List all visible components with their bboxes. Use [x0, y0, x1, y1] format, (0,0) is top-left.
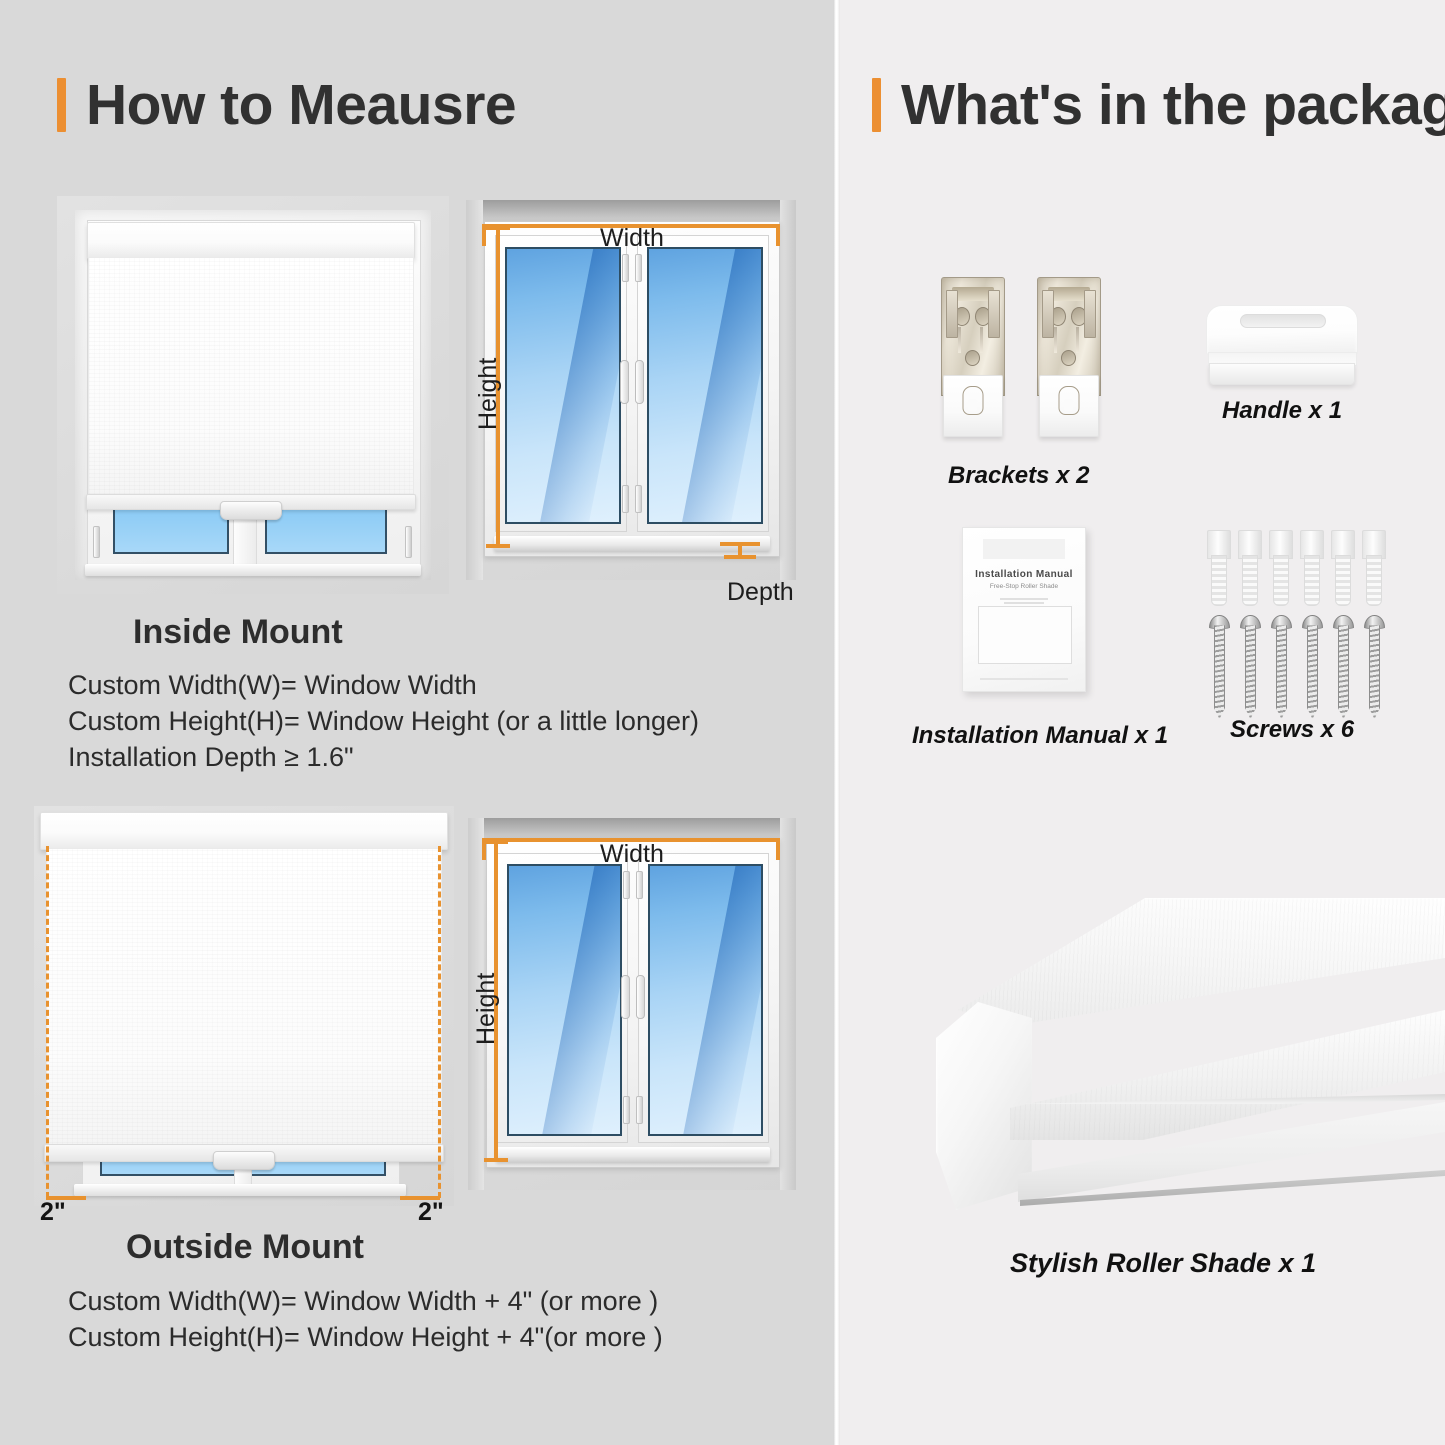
screw-icon: [1302, 615, 1321, 719]
inside-mount-spec-2: Custom Height(H)= Window Height (or a li…: [68, 706, 699, 737]
bracket-rail: [1076, 327, 1079, 353]
wall-anchor-icon: [1300, 530, 1322, 604]
width-cap-right: [776, 224, 780, 246]
outside-mount-illustration: [34, 806, 454, 1206]
hinge-icon: [636, 1096, 643, 1124]
handle-body: [1206, 305, 1358, 355]
bracket-tab-left: [1042, 290, 1054, 338]
wall-anchor-icon: [1269, 530, 1291, 604]
window-frame: [486, 838, 780, 1167]
how-to-measure-heading: How to Meausre: [57, 72, 516, 138]
handle-icon: [1206, 305, 1356, 383]
window-sill: [496, 1147, 770, 1162]
bracket-mount-plate: [943, 375, 1002, 437]
window-hinge-left-icon: [93, 526, 100, 558]
bracket-icon: [941, 277, 1003, 435]
inside-mount-window-diagram: [466, 200, 796, 580]
window-sash-left: [495, 235, 626, 531]
wall-anchor-icon: [1362, 530, 1384, 604]
window-glass-left: [505, 247, 620, 525]
hinge-icon: [623, 871, 630, 899]
window-frame: [484, 221, 780, 557]
window-reveal-right: [780, 200, 797, 580]
outside-mount-window-diagram: [468, 818, 796, 1190]
window-pane-left: [113, 508, 229, 554]
inside-mount-spec-3: Installation Depth ≥ 1.6": [68, 742, 354, 773]
inside-mount-spec-1: Custom Width(W)= Window Width: [68, 670, 477, 701]
bracket-keyhole-slot: [962, 386, 983, 415]
window-sill: [85, 564, 421, 576]
how-to-measure-title: How to Meausre: [86, 72, 516, 138]
window-handle-right-icon: [635, 360, 644, 404]
shade-pull-handle[interactable]: [220, 501, 282, 520]
window-handles: [620, 360, 644, 404]
hinge-icon: [622, 485, 629, 513]
overhang-label-right: 2": [418, 1198, 444, 1227]
infographic-page: How to Meausre: [0, 0, 1445, 1445]
window-pane-right: [265, 508, 387, 554]
shade-bottom-bar: [44, 1144, 444, 1162]
shade-end-cap: [936, 1002, 1032, 1210]
window-handle-right-icon: [636, 975, 645, 1019]
shade-top-surface: [940, 898, 1445, 1026]
window-glass-right: [647, 247, 762, 525]
bracket-hole: [965, 350, 980, 366]
manual-cover-figure: [978, 606, 1073, 663]
window-handle-left-icon: [620, 360, 629, 404]
handle-base: [1209, 363, 1355, 385]
inside-mount-illustration: [57, 196, 449, 594]
screw-icon: [1271, 615, 1290, 719]
hinge-icon: [622, 254, 629, 282]
bracket-tab-right: [1084, 290, 1096, 338]
width-label: Width: [600, 224, 664, 253]
depth-label: Depth: [727, 578, 794, 607]
bracket-tab-right: [988, 290, 1000, 338]
shade-fabric: [46, 848, 442, 1148]
roller-shade-label: Stylish Roller Shade x 1: [1010, 1248, 1316, 1279]
panel-divider: [833, 0, 840, 1445]
width-cap-right: [776, 838, 780, 860]
wall-anchor-icon: [1207, 530, 1229, 604]
bracket-mount-plate: [1039, 375, 1098, 437]
window-glass-right: [648, 864, 762, 1136]
height-cap-bottom: [484, 1158, 508, 1162]
manual-icon: Installation Manual Free-Stop Roller Sha…: [962, 527, 1086, 692]
window-glass-left: [507, 864, 621, 1136]
window-handle-left-icon: [621, 975, 630, 1019]
outside-mount-spec-1: Custom Width(W)= Window Width + 4" (or m…: [68, 1286, 658, 1317]
package-title: What's in the package: [901, 72, 1445, 138]
window-handles: [621, 975, 645, 1019]
screw-icon: [1240, 615, 1259, 719]
shade-fabric: [88, 257, 414, 499]
bracket-rail: [958, 327, 961, 353]
window-sill: [74, 1184, 406, 1196]
overhang-label-left: 2": [40, 1198, 66, 1227]
height-label: Height: [474, 358, 503, 430]
bracket-rail: [980, 327, 983, 353]
accent-bar-icon: [57, 78, 66, 132]
shade-cassette: [40, 812, 448, 850]
window-sash-right: [638, 853, 768, 1143]
bracket-keyhole-slot: [1058, 386, 1079, 415]
hinge-icon: [623, 1096, 630, 1124]
bracket-hole: [1061, 350, 1076, 366]
manual-cover-title: Installation Manual: [973, 569, 1075, 580]
accent-bar-icon: [872, 78, 881, 132]
screw-icon: [1364, 615, 1383, 719]
handle-grip-slot: [1240, 314, 1326, 329]
outside-mount-title: Outside Mount: [126, 1228, 364, 1267]
window-sash-left: [497, 853, 627, 1143]
screws-label: Screws x 6: [1230, 716, 1354, 744]
height-cap-bottom: [486, 544, 510, 548]
depth-cap-base: [724, 555, 756, 559]
screw-icon: [1333, 615, 1352, 719]
brackets-label: Brackets x 2: [948, 462, 1089, 490]
shade-bottom-bar: [86, 494, 416, 510]
manual-band: [983, 539, 1066, 559]
width-label-outside: Width: [600, 840, 664, 869]
hinge-icon: [636, 871, 643, 899]
window-sash-right: [637, 235, 768, 531]
window-hinge-right-icon: [405, 526, 412, 558]
shade-cassette: [87, 222, 415, 259]
height-cap-top: [484, 840, 508, 844]
overhang-guide-left: [46, 846, 49, 1198]
inside-mount-title: Inside Mount: [133, 613, 343, 652]
bracket-rail: [1054, 327, 1057, 353]
overhang-guide-right: [438, 846, 441, 1198]
package-heading: What's in the package: [872, 72, 1445, 138]
window-reveal-right: [780, 818, 796, 1190]
wall-anchor-icon: [1331, 530, 1353, 604]
bracket-tab-left: [946, 290, 958, 338]
bracket-icon: [1037, 277, 1099, 435]
roller-shade-icon: [900, 880, 1445, 1215]
manual-cover-subtitle: Free-Stop Roller Shade: [973, 583, 1075, 590]
shade-pull-handle[interactable]: [213, 1151, 275, 1170]
handle-label: Handle x 1: [1222, 397, 1342, 425]
hinge-icon: [635, 485, 642, 513]
manual-footer-rule: [980, 678, 1068, 680]
height-label-outside: Height: [472, 973, 501, 1045]
wall-anchor-icon: [1238, 530, 1260, 604]
height-cap-top: [486, 226, 510, 230]
outside-mount-spec-2: Custom Height(H)= Window Height + 4"(or …: [68, 1322, 663, 1353]
manual-label: Installation Manual x 1: [912, 722, 1168, 750]
screw-icon: [1209, 615, 1228, 719]
hinge-icon: [635, 254, 642, 282]
